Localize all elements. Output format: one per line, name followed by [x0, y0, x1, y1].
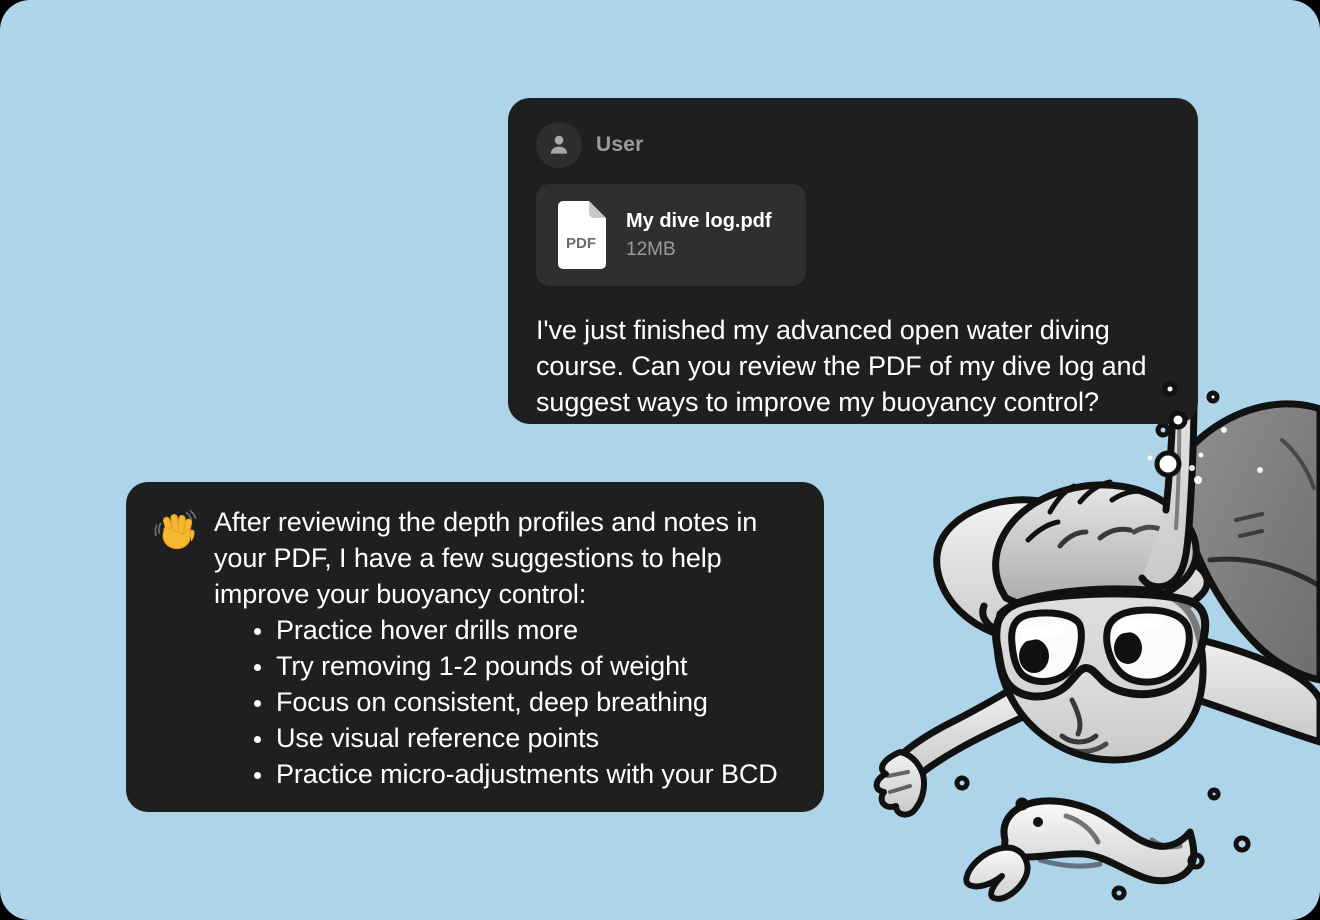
list-item: Focus on consistent, deep breathing — [254, 684, 798, 720]
diver-right-arm — [1148, 630, 1320, 742]
diver-torso — [937, 500, 1207, 645]
attachment-card[interactable]: PDF My dive log.pdf 12MB — [536, 184, 806, 286]
attachment-name: My dive log.pdf — [626, 209, 772, 233]
assistant-message-body: After reviewing the depth profiles and n… — [214, 504, 798, 792]
user-header: User — [536, 122, 1170, 168]
air-bubbles-small — [1148, 427, 1264, 473]
user-name-label: User — [596, 133, 644, 157]
list-item: Use visual reference points — [254, 720, 798, 756]
diver-face — [997, 589, 1203, 760]
waving-hand-emoji — [152, 508, 200, 556]
attachment-meta: My dive log.pdf 12MB — [626, 209, 772, 262]
wetsuit-arm — [1182, 404, 1320, 680]
pdf-icon-label: PDF — [566, 235, 596, 252]
user-message-text: I've just finished my advanced open wate… — [536, 312, 1170, 420]
pdf-file-icon: PDF — [554, 200, 610, 270]
air-bubbles — [957, 425, 1248, 898]
user-message-bubble: User PDF My dive log.pdf 12MB I've just … — [508, 98, 1198, 424]
attachment-size: 12MB — [626, 239, 772, 262]
list-item: Practice hover drills more — [254, 612, 798, 648]
list-item: Try removing 1-2 pounds of weight — [254, 648, 798, 684]
dive-mask-icon — [983, 593, 1205, 696]
assistant-message-bubble: After reviewing the depth profiles and n… — [126, 482, 824, 812]
diver-left-arm — [877, 684, 1034, 815]
assistant-intro-text: After reviewing the depth profiles and n… — [214, 504, 798, 612]
diver-hair — [996, 482, 1197, 611]
person-avatar-icon — [536, 122, 582, 168]
page-root: User PDF My dive log.pdf 12MB I've just … — [0, 0, 1320, 920]
list-item: Practice micro-adjustments with your BCD — [254, 756, 798, 792]
fish-icon — [966, 801, 1193, 899]
suggestions-list: Practice hover drills more Try removing … — [214, 612, 798, 792]
